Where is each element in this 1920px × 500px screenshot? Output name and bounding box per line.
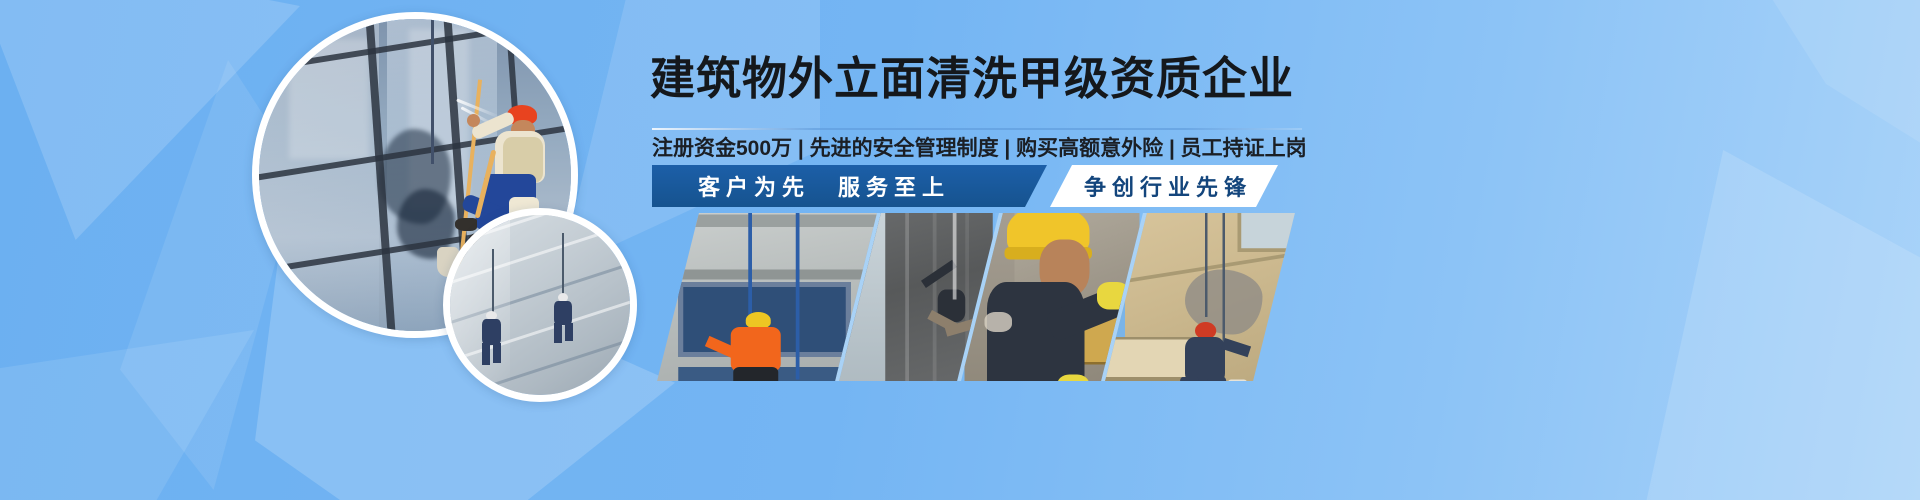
slogan-primary-text: 客户为先 服务至上 [652, 170, 950, 202]
banner-content: 建筑物外立面清洗甲级资质企业 注册资金500万 | 先进的安全管理制度 | 购买… [650, 0, 1920, 500]
slogan-secondary-text: 争创行业先锋 [1050, 170, 1252, 202]
photo-collage [652, 213, 1274, 381]
slogan-bar: 客户为先 服务至上 争创行业先锋 [652, 165, 1272, 207]
banner-subtitle: 注册资金500万 | 先进的安全管理制度 | 购买高额意外险 | 员工持证上岗 [652, 134, 1312, 164]
slogan-secondary-panel: 争创行业先锋 [1050, 165, 1278, 207]
slogan-primary-panel: 客户为先 服务至上 [652, 165, 1047, 207]
light-facade-workers-photo [450, 215, 630, 395]
photo-circle-small [443, 208, 637, 402]
headline-divider [652, 128, 1302, 130]
promo-banner: 建筑物外立面清洗甲级资质企业 注册资金500万 | 先进的安全管理制度 | 购买… [0, 0, 1920, 500]
banner-headline: 建筑物外立面清洗甲级资质企业 [650, 50, 1310, 108]
